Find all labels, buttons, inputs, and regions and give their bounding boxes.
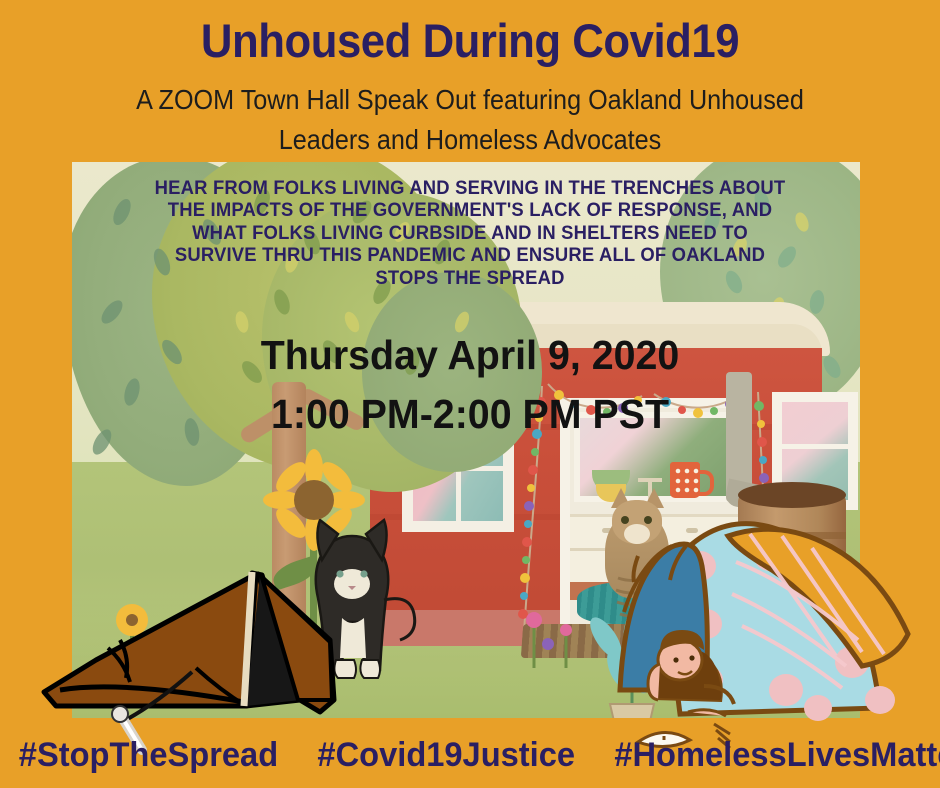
sunflower-center <box>294 480 334 520</box>
hashtag-stopthespread: #StopTheSpread <box>19 736 278 775</box>
ladder <box>246 608 306 698</box>
barrel-hoop-1 <box>738 532 846 539</box>
rain-barrel-rim <box>738 482 846 508</box>
flyer-canvas: Unhoused During Covid19 A ZOOM Town Hall… <box>0 0 940 788</box>
page-subtitle: A ZOOM Town Hall Speak Out featuring Oak… <box>110 80 830 160</box>
event-date: Thursday April 9, 2020 <box>134 326 806 385</box>
hashtag-row: #StopTheSpread #Covid19Justice #Homeless… <box>19 736 921 775</box>
hashtag-homelesslivesmatter: #HomelessLivesMatter <box>614 736 940 775</box>
body-copy: HEAR FROM FOLKS LIVING AND SERVING IN TH… <box>150 178 790 290</box>
event-datetime: Thursday April 9, 2020 1:00 PM-2:00 PM P… <box>134 326 806 445</box>
barrel-hoop-2 <box>738 580 846 587</box>
event-time: 1:00 PM-2:00 PM PST <box>134 385 806 444</box>
page-title: Unhoused During Covid19 <box>33 16 907 67</box>
hashtag-covid19justice: #Covid19Justice <box>317 736 575 775</box>
rain-barrel <box>738 492 846 610</box>
potted-plant <box>572 592 692 718</box>
